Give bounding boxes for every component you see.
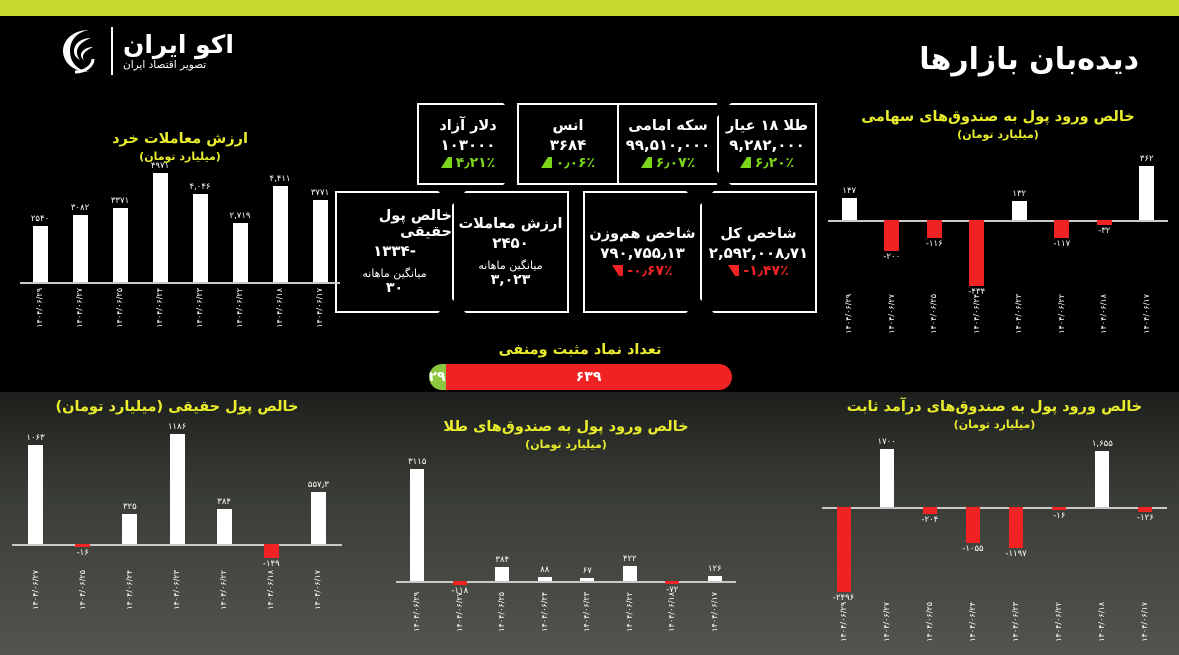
chart-x-tick-label: ۱۴۰۴/۰۶/۲۹ [412, 592, 421, 632]
chart-plot-area: ۳۷۷۱۴,۴۱۱۲,۷۱۹۴,۰۴۶۴۹۷۱۳۳۷۱۳۰۸۲۲۵۴۰ [20, 164, 340, 282]
chart-bar[interactable]: ۱۳۲ [1012, 201, 1027, 221]
chart-bar-label: ۱۳۲ [1012, 189, 1026, 199]
chart-x-tick-label: ۱۴۰۴/۰۶/۲۲ [625, 592, 634, 632]
chart-x-tick-label: ۱۴۰۴/۰۶/۲۷ [75, 288, 84, 328]
chart-x-tick-label: ۱۴۰۴/۰۶/۲۲ [235, 288, 244, 328]
chart-bar[interactable]: -۲۴۹۶ [837, 507, 851, 592]
chart-x-tick-label: ۱۴۰۴/۰۶/۲۴ [972, 294, 981, 334]
price-card-row-2: شاخص کل ۲,۵۹۲,۰۰۸٫۷۱ -۱٫۴۷٪ شاخص هم‌وزن … [347, 191, 817, 313]
chart-x-tick-label: ۱۴۰۴/۰۶/۲۹ [35, 288, 44, 328]
top-accent-strip [0, 0, 1179, 16]
positive-symbols-segment: ۲۹ [429, 364, 446, 390]
chart-bar-label: ۱۲۶ [708, 564, 722, 574]
chart-bar-label: -۱۶ [77, 548, 89, 558]
chart-x-tick-label: ۱۴۰۴/۰۶/۲۵ [925, 602, 934, 642]
page-title: دیده‌بان بازارها [919, 42, 1139, 77]
header-bar: اکو ایران تصویر اقتصاد ایران دیده‌بان با… [0, 16, 1179, 94]
price-card-real-money[interactable]: خالص پول حقیقی -۱۳۳۴ میانگین ماهانه ۳۰ [335, 191, 452, 313]
chart-bar-label: ۴,۴۱۱ [270, 174, 291, 184]
card-title: طلا ۱۸ عیار [726, 118, 808, 134]
chart-x-axis-labels: ۱۴۰۴/۰۶/۱۷۱۴۰۴/۰۶/۱۸۱۴۰۴/۰۶/۲۲۱۴۰۴/۰۶/۲۳… [12, 570, 342, 628]
chart-plot-area: ۵۵۷٫۳-۱۴۹۳۸۴۱۱۸۶۳۲۵-۱۶۱۰۶۳ [12, 428, 342, 563]
chart-title: ارزش معاملات خرد(میلیارد تومان) [20, 130, 340, 164]
chart-x-tick-label: ۱۴۰۴/۰۶/۲۹ [839, 602, 848, 642]
chart-bar-label: ۲,۷۱۹ [230, 211, 251, 221]
chart-bar[interactable]: ۸۸ [538, 577, 552, 580]
chart-bar-label: ۳۰۸۲ [71, 203, 89, 213]
chart-bar[interactable]: ۱,۶۵۵ [1095, 451, 1109, 507]
chart-bar-label: ۵۵۷٫۳ [308, 480, 329, 490]
chart-bar[interactable]: ۶۷ [580, 578, 594, 581]
chart-axis-line [12, 544, 342, 546]
chart-gold-fund-net-flow: خالص ورود پول به صندوق‌های طلا(میلیارد ت… [396, 418, 736, 646]
card-change-value: ۰٫۰۶٪ [556, 155, 595, 171]
price-card-total-index[interactable]: شاخص کل ۲,۵۹۲,۰۰۸٫۷۱ -۱٫۴۷٪ [700, 191, 817, 313]
chart-x-tick-label: ۱۴۰۴/۰۶/۲۷ [455, 592, 464, 632]
card-sub-label: میانگین ماهانه [362, 267, 426, 280]
chart-bar[interactable]: -۱۱۸ [453, 581, 467, 585]
chart-bar[interactable]: ۳۸۴ [217, 509, 232, 545]
chart-x-tick-label: ۱۴۰۴/۰۶/۲۴ [968, 602, 977, 642]
chart-x-tick-label: ۱۴۰۴/۰۶/۱۷ [710, 592, 719, 632]
chart-bar-label: ۱,۶۵۵ [1092, 439, 1113, 449]
chart-bar-label: -۳۲ [1098, 226, 1110, 236]
chart-bar[interactable]: ۳۱۱۵ [410, 469, 424, 581]
card-title: دلار آزاد [439, 118, 496, 134]
chart-bar-label: ۱۴۷ [842, 186, 856, 196]
chart-x-tick-label: ۱۴۰۴/۰۶/۲۷ [882, 602, 891, 642]
chart-bar[interactable]: -۷۲ [665, 581, 679, 584]
chart-x-tick-label: ۱۴۰۴/۰۶/۲۳ [1011, 602, 1020, 642]
chart-bar[interactable]: ۱۲۶ [708, 576, 722, 581]
chart-x-tick-label: ۱۴۰۴/۰۶/۲۴ [540, 592, 549, 632]
chart-bar-label: -۲۰۴ [921, 515, 938, 525]
price-card-gold18[interactable]: طلا ۱۸ عیار ۹,۲۸۲,۰۰۰ ۶٫۲۰٪ [717, 103, 817, 185]
card-change: ۴٫۲۱٪ [441, 155, 495, 171]
chart-bar-label: -۱۶ [1053, 511, 1065, 521]
chart-equity-fund-net-flow: خالص ورود پول به صندوق‌های سهامی(میلیارد… [828, 108, 1168, 340]
chart-bar[interactable]: ۱۴۷ [842, 198, 857, 220]
chart-title: خالص ورود پول به صندوق‌های درآمد ثابت(می… [822, 398, 1167, 432]
chart-bar[interactable]: -۱۲۶ [1138, 507, 1152, 511]
negative-symbols-segment: ۶۳۹ [446, 364, 732, 390]
chart-bar-label: ۱۷۰۰ [878, 437, 896, 447]
chart-retail-trade-value: ارزش معاملات خرد(میلیارد تومان)۳۷۷۱۴,۴۱۱… [20, 130, 340, 340]
chart-x-axis-labels: ۱۴۰۴/۰۶/۱۷۱۴۰۴/۰۶/۱۸۱۴۰۴/۰۶/۲۲۱۴۰۴/۰۶/۲۳… [20, 288, 340, 346]
chart-bar-label: -۱۱۶ [926, 239, 943, 249]
chart-axis-line [20, 282, 340, 284]
chart-bar[interactable]: -۲۰۰ [884, 220, 899, 250]
chart-bar[interactable]: -۲۰۴ [923, 507, 937, 514]
card-value: ۹۹,۵۱۰,۰۰۰ [626, 136, 711, 154]
chart-x-tick-label: ۱۴۰۴/۰۶/۲۵ [115, 288, 124, 328]
card-value: ۷۹۰,۷۵۵٫۱۳ [600, 244, 685, 262]
chart-bar[interactable]: ۱۱۸۶ [170, 434, 185, 544]
card-title: سکه امامی [628, 118, 708, 134]
chart-x-tick-label: ۱۴۰۴/۰۶/۱۸ [1097, 602, 1106, 642]
chart-axis-line [822, 507, 1167, 509]
chart-bar[interactable]: ۲۵۴۰ [33, 226, 48, 282]
chart-bar[interactable]: -۱۱۶ [927, 220, 942, 238]
chart-fixed-income-fund-net-flow: خالص ورود پول به صندوق‌های درآمد ثابت(می… [822, 398, 1167, 643]
chart-bar-label: ۴۹۷۱ [151, 161, 169, 171]
dashboard-root: اکو ایران تصویر اقتصاد ایران دیده‌بان با… [0, 0, 1179, 655]
brand-tagline: تصویر اقتصاد ایران [123, 59, 206, 71]
chart-bar-label: ۲۵۴۰ [31, 214, 49, 224]
chart-bar-label: -۱۰۵۵ [962, 544, 983, 554]
chart-x-tick-label: ۱۴۰۴/۰۶/۲۵ [78, 570, 87, 610]
chart-bar[interactable]: ۴,۰۴۶ [193, 194, 208, 282]
price-card-trade-value[interactable]: ارزش معاملات ۲۴۵۰ میانگین ماهانه ۳,۰۲۳ [452, 191, 569, 313]
chart-x-tick-label: ۱۴۰۴/۰۶/۲۷ [887, 294, 896, 334]
chart-title: خالص ورود پول به صندوق‌های طلا(میلیارد ت… [396, 418, 736, 452]
chart-axis-line [396, 581, 736, 583]
chart-x-tick-label: ۱۴۰۴/۰۶/۲۵ [929, 294, 938, 334]
card-value: ۲۴۵۰ [492, 234, 529, 252]
brand-logo[interactable]: اکو ایران تصویر اقتصاد ایران [55, 26, 234, 76]
card-change-value: -۰٫۶۷٪ [627, 263, 672, 279]
chart-bar-label: ۸۸ [540, 565, 549, 575]
card-value: ۳۶۸۴ [550, 136, 587, 154]
chart-bar-label: ۳۸۴ [495, 555, 509, 565]
chart-bar-label: -۱۲۶ [1137, 513, 1154, 523]
chart-bar[interactable]: ۳۶۲ [1139, 166, 1154, 221]
arrow-down-icon [728, 265, 739, 276]
chart-x-tick-label: ۱۴۰۴/۰۶/۲۷ [31, 570, 40, 610]
chart-x-tick-label: ۱۴۰۴/۰۶/۲۵ [497, 592, 506, 632]
card-change: ۶٫۲۰٪ [740, 155, 794, 171]
chart-bar[interactable]: -۱۱۹۷ [1009, 507, 1023, 548]
card-change: -۰٫۶۷٪ [612, 263, 672, 279]
card-change: ۰٫۰۶٪ [541, 155, 595, 171]
chart-bar[interactable]: -۱۱۷ [1054, 220, 1069, 238]
price-card-free-dollar[interactable]: دلار آزاد ۱۰۳۰۰۰ ۴٫۲۱٪ [417, 103, 517, 185]
chart-x-axis-labels: ۱۴۰۴/۰۶/۱۷۱۴۰۴/۰۶/۱۸۱۴۰۴/۰۶/۲۲۱۴۰۴/۰۶/۲۳… [828, 294, 1168, 352]
chart-x-axis-labels: ۱۴۰۴/۰۶/۱۷۱۴۰۴/۰۶/۱۸۱۴۰۴/۰۶/۲۲۱۴۰۴/۰۶/۲۳… [822, 602, 1167, 655]
chart-bar[interactable]: -۳۲ [1097, 220, 1112, 225]
chart-bar[interactable]: ۳۲۵ [122, 514, 137, 544]
symbol-count-widget: تعداد نماد مثبت ومنفی ۶۳۹ ۲۹ [420, 342, 740, 390]
arrow-up-icon [541, 157, 552, 168]
chart-bar[interactable]: -۱۴۹ [264, 544, 279, 558]
chart-bar-label: ۴۲۲ [623, 554, 637, 564]
chart-bar[interactable]: ۳۸۴ [495, 567, 509, 581]
chart-axis-line [828, 220, 1168, 222]
chart-bar[interactable]: ۳۰۸۲ [73, 215, 88, 282]
card-value: ۹,۲۸۲,۰۰۰ [729, 136, 804, 154]
price-card-equal-weight-index[interactable]: شاخص هم‌وزن ۷۹۰,۷۵۵٫۱۳ -۰٫۶۷٪ [583, 191, 700, 313]
card-change-value: ۶٫۲۰٪ [755, 155, 794, 171]
chart-x-tick-label: ۱۴۰۴/۰۶/۲۹ [844, 294, 853, 334]
chart-bar-label: -۱۱۹۷ [1005, 549, 1026, 559]
chart-real-money-net: خالص پول حقیقی (میلیارد تومان)۵۵۷٫۳-۱۴۹۳… [12, 398, 342, 643]
chart-bar[interactable]: ۵۵۷٫۳ [311, 492, 326, 544]
chart-bar[interactable]: -۴۳۴ [969, 220, 984, 286]
card-change-value: -۱٫۴۷٪ [743, 263, 788, 279]
chart-plot-area: -۱۲۶۱,۶۵۵-۱۶-۱۱۹۷-۱۰۵۵-۲۰۴۱۷۰۰-۲۴۹۶ [822, 446, 1167, 596]
price-card-ounce[interactable]: انس ۳۶۸۴ ۰٫۰۶٪ [517, 103, 617, 185]
chart-unit-label: (میلیارد تومان) [20, 150, 340, 165]
chart-title: خالص پول حقیقی (میلیارد تومان) [12, 398, 342, 418]
chart-bar-label: ۳۸۴ [217, 497, 231, 507]
chart-x-tick-label: ۱۴۰۴/۰۶/۲۳ [195, 288, 204, 328]
chart-bar-label: -۱۴۹ [263, 559, 280, 569]
chart-bar-label: ۳۷۷۱ [311, 188, 329, 198]
market-price-cards: طلا ۱۸ عیار ۹,۲۸۲,۰۰۰ ۶٫۲۰٪ سکه امامی ۹۹… [347, 103, 817, 313]
chart-bar-label: ۱۱۸۶ [168, 422, 186, 432]
card-change-value: ۶٫۰۷٪ [656, 155, 695, 171]
chart-bar[interactable]: ۱۷۰۰ [880, 449, 894, 507]
logo-divider [111, 27, 113, 75]
card-change: ۶٫۰۷٪ [641, 155, 695, 171]
chart-bar-label: ۴,۰۴۶ [190, 182, 211, 192]
card-value: ۱۰۳۰۰۰ [441, 136, 496, 154]
chart-x-tick-label: ۱۴۰۴/۰۶/۲۳ [172, 570, 181, 610]
card-title: انس [553, 118, 584, 134]
card-title: خالص پول حقیقی [337, 208, 452, 240]
chart-bar[interactable]: -۱۶ [1052, 507, 1066, 510]
chart-bar[interactable]: -۱۶ [75, 544, 90, 547]
chart-bar[interactable]: ۳۷۷۱ [313, 200, 328, 282]
card-title: شاخص هم‌وزن [589, 226, 695, 242]
price-card-emami-coin[interactable]: سکه امامی ۹۹,۵۱۰,۰۰۰ ۶٫۰۷٪ [617, 103, 717, 185]
card-sub-value: ۳۰ [386, 280, 403, 296]
chart-bar-label: ۳۶۲ [1140, 154, 1154, 164]
card-sub-value: ۳,۰۲۳ [491, 272, 531, 288]
card-change-value: ۴٫۲۱٪ [456, 155, 495, 171]
chart-x-tick-label: ۱۴۰۴/۰۶/۲۲ [1054, 602, 1063, 642]
chart-unit-label: (میلیارد تومان) [822, 418, 1167, 433]
chart-unit-label: (میلیارد تومان) [396, 438, 736, 453]
chart-x-tick-label: ۱۴۰۴/۰۶/۱۸ [266, 570, 275, 610]
chart-bar[interactable]: ۳۳۷۱ [113, 208, 128, 282]
chart-x-tick-label: ۱۴۰۴/۰۶/۱۷ [1140, 602, 1149, 642]
chart-bar-label: ۳۱۱۵ [408, 457, 426, 467]
chart-bar[interactable]: ۱۰۶۳ [28, 445, 43, 544]
chart-bar-label: ۶۷ [583, 566, 592, 576]
chart-bar[interactable]: ۴,۴۱۱ [273, 186, 288, 282]
arrow-up-icon [641, 157, 652, 168]
card-title: ارزش معاملات [459, 216, 563, 232]
chart-unit-label: (میلیارد تومان) [828, 128, 1168, 143]
chart-x-tick-label: ۱۴۰۴/۰۶/۲۲ [1057, 294, 1066, 334]
chart-x-tick-label: ۱۴۰۴/۰۶/۲۴ [155, 288, 164, 328]
chart-bar-label: -۱۱۷ [1053, 239, 1070, 249]
arrow-up-icon [740, 157, 751, 168]
card-value: -۱۳۳۴ [373, 242, 416, 260]
chart-x-tick-label: ۱۴۰۴/۰۶/۱۸ [667, 592, 676, 632]
trade-card-group: ارزش معاملات ۲۴۵۰ میانگین ماهانه ۳,۰۲۳ خ… [335, 191, 569, 313]
card-sub-label: میانگین ماهانه [478, 259, 542, 272]
brand-text: اکو ایران تصویر اقتصاد ایران [123, 31, 234, 72]
chart-x-axis-labels: ۱۴۰۴/۰۶/۱۷۱۴۰۴/۰۶/۱۸۱۴۰۴/۰۶/۲۲۱۴۰۴/۰۶/۲۳… [396, 592, 736, 650]
chart-bar[interactable]: ۴۹۷۱ [153, 173, 168, 282]
chart-bar[interactable]: ۲,۷۱۹ [233, 223, 248, 282]
arrow-down-icon [612, 265, 623, 276]
eco-iran-swoosh-icon [55, 26, 101, 76]
chart-plot-area: ۱۲۶-۷۲۴۲۲۶۷۸۸۳۸۴-۱۱۸۳۱۱۵ [396, 466, 736, 586]
chart-bar[interactable]: -۱۰۵۵ [966, 507, 980, 543]
price-card-row-1: طلا ۱۸ عیار ۹,۲۸۲,۰۰۰ ۶٫۲۰٪ سکه امامی ۹۹… [347, 103, 817, 185]
chart-x-tick-label: ۱۴۰۴/۰۶/۲۴ [125, 570, 134, 610]
index-card-group: شاخص کل ۲,۵۹۲,۰۰۸٫۷۱ -۱٫۴۷٪ شاخص هم‌وزن … [583, 191, 817, 313]
chart-bar-label: ۱۰۶۳ [26, 433, 44, 443]
chart-bar-label: -۲۰۰ [883, 252, 900, 262]
chart-bar[interactable]: ۴۲۲ [623, 566, 637, 581]
chart-x-tick-label: ۱۴۰۴/۰۶/۱۸ [275, 288, 284, 328]
chart-x-tick-label: ۱۴۰۴/۰۶/۱۸ [1099, 294, 1108, 334]
chart-x-tick-label: ۱۴۰۴/۰۶/۱۷ [313, 570, 322, 610]
chart-x-tick-label: ۱۴۰۴/۰۶/۲۳ [1014, 294, 1023, 334]
chart-x-tick-label: ۱۴۰۴/۰۶/۱۷ [1142, 294, 1151, 334]
chart-x-tick-label: ۱۴۰۴/۰۶/۲۲ [219, 570, 228, 610]
card-change: -۱٫۴۷٪ [728, 263, 788, 279]
chart-plot-area: ۳۶۲-۳۲-۱۱۷۱۳۲-۴۳۴-۱۱۶-۲۰۰۱۴۷ [828, 160, 1168, 290]
chart-title: خالص ورود پول به صندوق‌های سهامی(میلیارد… [828, 108, 1168, 142]
brand-name: اکو ایران [123, 31, 234, 60]
arrow-up-icon [441, 157, 452, 168]
chart-x-tick-label: ۱۴۰۴/۰۶/۲۳ [582, 592, 591, 632]
chart-bar-label: ۳۳۷۱ [111, 196, 129, 206]
card-value: ۲,۵۹۲,۰۰۸٫۷۱ [709, 244, 808, 262]
chart-bar-label: ۳۲۵ [123, 502, 137, 512]
card-title: شاخص کل [720, 226, 796, 242]
symbol-count-title: تعداد نماد مثبت ومنفی [420, 342, 740, 358]
symbol-count-bar[interactable]: ۶۳۹ ۲۹ [429, 364, 732, 390]
chart-x-tick-label: ۱۴۰۴/۰۶/۱۷ [315, 288, 324, 328]
